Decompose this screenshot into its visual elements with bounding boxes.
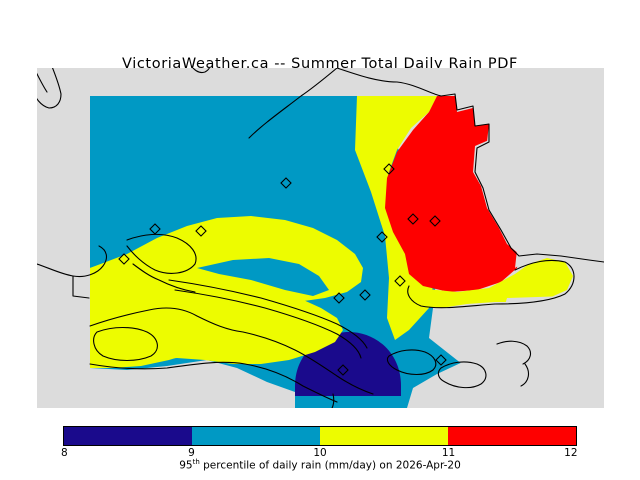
colorbar-segment-11-12[interactable] <box>448 427 576 445</box>
screenshot-root: VictoriaWeather.ca -- Summer Total Daily… <box>0 0 640 480</box>
colorbar-segment-8-9[interactable] <box>64 427 192 445</box>
colorbar-caption-ordinal: th <box>193 458 200 466</box>
colorbar-segment-9-10[interactable] <box>192 427 320 445</box>
colorbar-caption-prefix: 95 <box>179 460 192 472</box>
map-panel[interactable] <box>37 68 604 408</box>
rainfall-contour-map[interactable] <box>37 68 604 408</box>
colorbar-caption-rest: percentile of daily rain (mm/day) on 202… <box>200 460 461 472</box>
colorbar-caption: 95th percentile of daily rain (mm/day) o… <box>0 458 640 472</box>
colorbar-segment-10-11[interactable] <box>320 427 448 445</box>
colorbar[interactable] <box>63 426 577 446</box>
